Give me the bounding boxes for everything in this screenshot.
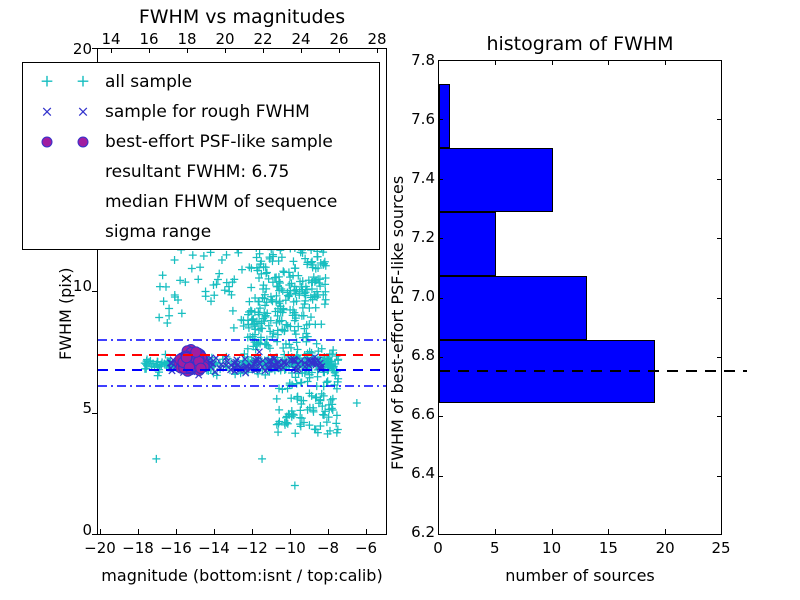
left-top-tick-labels: 14 16 18 20 22 24 26 28 <box>97 30 387 48</box>
y-tick-label: 6.8 <box>411 346 435 364</box>
right-plot-left-ticks <box>438 60 444 535</box>
top-tick-label: 22 <box>253 30 272 48</box>
left-bottom-tick-labels: −20 −18 −16 −14 −12 −10 −8 −6 <box>97 539 387 559</box>
x-tick-label: 0 <box>433 539 443 557</box>
legend-item-all-sample[interactable]: + + all sample <box>23 67 379 97</box>
legend-item-psf-like[interactable]: best-effort PSF-like sample <box>23 127 379 157</box>
histogram-bar[interactable] <box>439 212 496 276</box>
x-tick-label: 15 <box>599 539 618 557</box>
top-tick-label: 20 <box>215 30 234 48</box>
legend-item-median-fhwm[interactable]: median FHWM of sequence <box>23 187 379 217</box>
y-tick-label: 7.6 <box>411 110 435 128</box>
legend-label: sigma range <box>105 224 379 241</box>
blue-dashdot-line-icon <box>29 219 105 245</box>
bottom-tick-label: −18 <box>122 539 154 557</box>
right-panel-title: histogram of FWHM <box>438 33 722 55</box>
y-tick-label: 7.4 <box>411 169 435 187</box>
left-bottom-ticks <box>97 529 387 535</box>
legend[interactable]: + + all sample × × sample for rough FWHM… <box>22 62 380 250</box>
left-y-tick-label-5: 5 <box>68 399 92 417</box>
top-tick-label: 26 <box>329 30 348 48</box>
y-tick-label: 6.4 <box>411 464 435 482</box>
top-tick-label: 28 <box>367 30 386 48</box>
bottom-tick-label: −8 <box>317 539 339 557</box>
left-top-ticks <box>97 48 387 54</box>
cross-icon: × × <box>29 99 105 125</box>
all-sample-points <box>141 212 361 489</box>
legend-label: resultant FWHM: 6.75 <box>105 164 379 181</box>
blue-dashed-line-icon <box>29 159 105 185</box>
histogram-bar[interactable] <box>439 276 587 340</box>
y-tick-label: 6.6 <box>411 405 435 423</box>
y-tick-label: 7.8 <box>411 51 435 69</box>
legend-item-sigma-range[interactable]: sigma range <box>23 217 379 247</box>
right-panel: histogram of FWHM FWHM of best-effort PS… <box>400 0 800 600</box>
top-tick-label: 16 <box>139 30 158 48</box>
top-tick-label: 18 <box>177 30 196 48</box>
filled-circle-icon <box>29 129 105 155</box>
x-tick-label: 5 <box>490 539 500 557</box>
right-plot-bottom-ticks <box>438 529 722 535</box>
matplotlib-figure: FWHM vs magnitudes 14 16 18 20 22 24 26 … <box>0 0 800 600</box>
right-y-tick-labels: 7.8 7.6 7.4 7.2 7.0 6.8 6.6 6.4 6.2 <box>395 0 435 600</box>
top-tick-label: 14 <box>101 30 120 48</box>
left-y-tick-label-0: 0 <box>68 521 92 539</box>
plus-icon: + + <box>29 69 105 95</box>
red-dashed-line-icon <box>29 189 105 215</box>
x-tick-label: 25 <box>711 539 730 557</box>
median-dashed-line <box>439 369 759 373</box>
left-y-tick-label-20: 20 <box>68 40 92 58</box>
bottom-tick-label: −20 <box>84 539 116 557</box>
right-plot-right-ticks <box>716 60 722 535</box>
legend-item-resultant-fwhm[interactable]: resultant FWHM: 6.75 <box>23 157 379 187</box>
bottom-tick-label: −10 <box>274 539 306 557</box>
legend-label: best-effort PSF-like sample <box>105 134 379 151</box>
bottom-tick-label: −12 <box>236 539 268 557</box>
bottom-tick-label: −6 <box>355 539 377 557</box>
top-tick-label: 24 <box>291 30 310 48</box>
x-tick-label: 20 <box>656 539 675 557</box>
right-x-axis-label: number of sources <box>438 566 722 585</box>
x-tick-label: 10 <box>542 539 561 557</box>
y-tick-label: 6.2 <box>411 523 435 541</box>
histogram-bar[interactable] <box>439 148 553 212</box>
legend-label: all sample <box>105 74 379 91</box>
left-y-axis-label: FWHM (pix) <box>56 268 75 361</box>
left-panel-title: FWHM vs magnitudes <box>97 6 387 28</box>
legend-item-rough-fwhm[interactable]: × × sample for rough FWHM <box>23 97 379 127</box>
y-tick-label: 7.2 <box>411 228 435 246</box>
right-plot-top-ticks <box>438 60 722 66</box>
bottom-tick-label: −16 <box>160 539 192 557</box>
left-x-axis-label: magnitude (bottom:isnt / top:calib) <box>97 566 387 585</box>
psf-like-points <box>174 345 209 377</box>
bottom-tick-label: −14 <box>198 539 230 557</box>
right-plot-area <box>438 60 722 535</box>
legend-label: sample for rough FWHM <box>105 104 379 121</box>
right-x-tick-labels: 0 5 10 15 20 25 <box>438 539 722 559</box>
y-tick-label: 7.0 <box>411 287 435 305</box>
legend-label: median FHWM of sequence <box>105 194 379 211</box>
